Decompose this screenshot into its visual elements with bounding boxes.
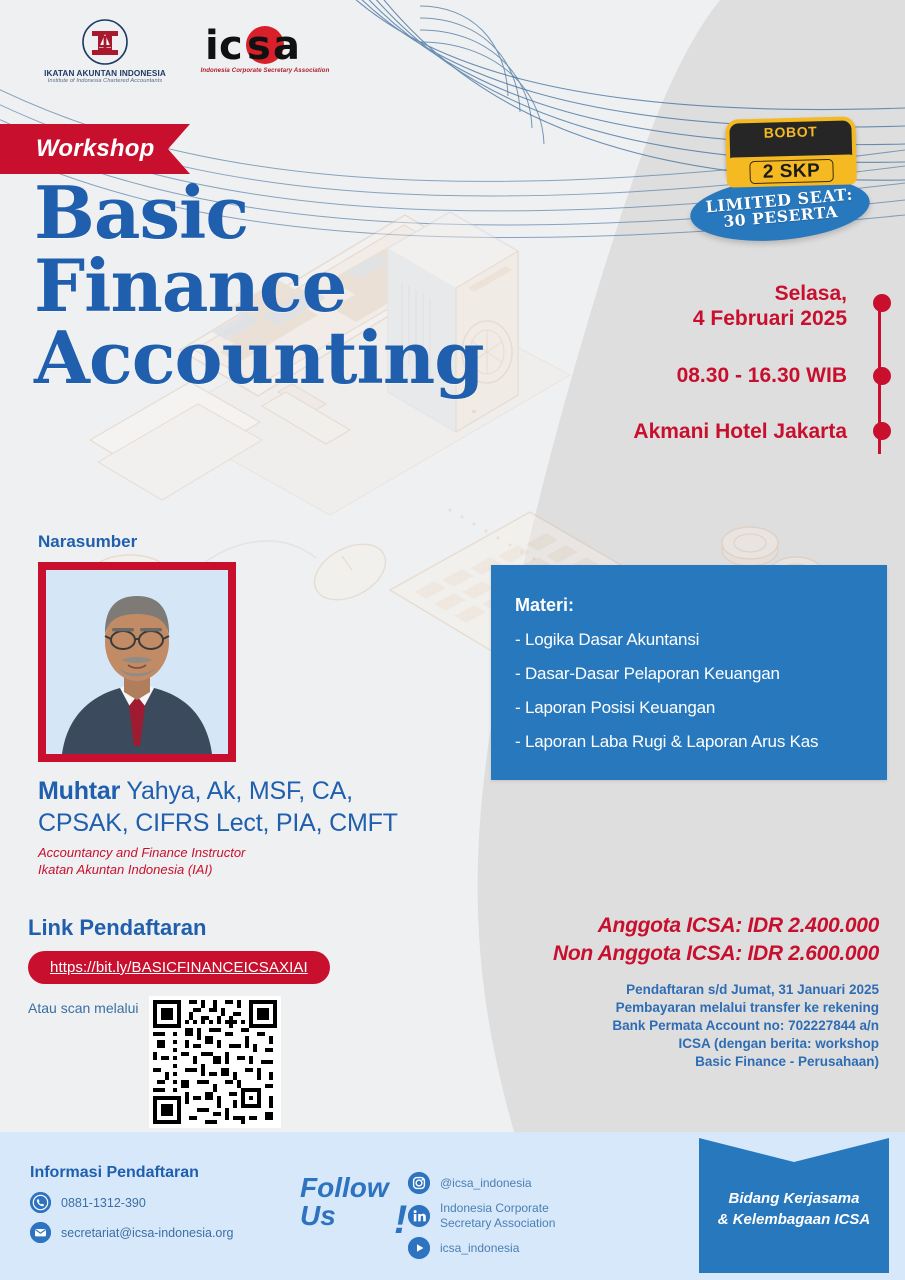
skp-value: 2 SKP [750,158,834,183]
bobot-label: BOBOT [729,122,851,141]
timeline-dot-date [873,294,891,312]
speaker-role-line-1: Accountancy and Finance Instructor [38,845,458,862]
materi-item: - Dasar-Dasar Pelaporan Keuangan [515,664,887,684]
payment-note: Pendaftaran s/d Jumat, 31 Januari 2025 P… [509,981,879,1071]
whatsapp-icon [30,1192,51,1213]
exclamation-icon: ! [394,1204,406,1236]
svg-text:a: a [273,23,300,66]
event-date-value: 4 Februari 2025 [607,307,847,332]
qr-code[interactable] [149,996,281,1128]
page-title: Basic Finance Accounting [34,178,454,394]
contact-email: secretariat@icsa-indonesia.org [61,1226,234,1240]
contact-phone: 0881-1312-390 [61,1196,146,1210]
social-youtube[interactable]: icsa_indonesia [408,1237,628,1259]
organizer-tag-line-2: & Kelembagaan ICSA [718,1211,871,1228]
materi-box: Materi: - Logika Dasar Akuntansi - Dasar… [491,565,887,780]
event-venue: Akmani Hotel Jakarta [607,420,887,445]
speaker-section: Narasumber [38,532,458,878]
social-instagram[interactable]: @icsa_indonesia [408,1172,628,1194]
social-youtube-handle: icsa_indonesia [440,1241,519,1256]
materi-item: - Logika Dasar Akuntansi [515,630,887,650]
event-venue-value: Akmani Hotel Jakarta [607,420,847,445]
iai-emblem-icon [81,18,129,66]
payment-note-line-3: Bank Permata Account no: 702227844 a/n [509,1017,879,1035]
registration-heading: Link Pendaftaran [28,915,448,941]
speaker-role: Accountancy and Finance Instructor Ikata… [38,845,458,878]
organizer-tag: Bidang Kerjasama & Kelembagaan ICSA [699,1138,889,1273]
follow-line-2: Us [300,1202,336,1230]
youtube-icon [408,1237,430,1259]
icsa-logo: i c s a Indonesia Corporate Secretary As… [200,20,330,74]
title-line-1: Basic [34,178,454,249]
payment-note-line-5: Basic Finance - Perusahaan) [509,1053,879,1071]
social-instagram-handle: @icsa_indonesia [440,1176,532,1191]
registration-section: Link Pendaftaran https://bit.ly/BASICFIN… [28,915,448,1128]
event-date: Selasa, 4 Februari 2025 [607,282,887,332]
event-details: Selasa, 4 Februari 2025 08.30 - 16.30 WI… [607,282,887,445]
price-member: Anggota ICSA: IDR 2.400.000 [509,912,879,940]
iai-subtitle: Institute of Indonesia Chartered Account… [40,78,170,84]
speaker-name: Muhtar Yahya, Ak, MSF, CA, CPSAK, CIFRS … [38,776,458,839]
event-day: Selasa, [607,282,847,307]
workshop-label: Workshop [36,135,155,163]
scan-label: Atau scan melalui [28,996,139,1016]
social-linkedin[interactable]: Indonesia CorporateSecretary Association [408,1201,628,1230]
speaker-first-name: Muhtar [38,777,120,805]
workshop-ribbon: Workshop [0,124,190,174]
payment-note-line-4: ICSA (dengan berita: workshop [509,1035,879,1053]
iai-logo: IKATAN AKUNTAN INDONESIA Institute of In… [40,18,170,84]
follow-us-label: Follow Us ! [300,1174,410,1230]
organizer-tag-text: Bidang Kerjasama & Kelembagaan ICSA [718,1189,871,1230]
skp-pill: 2 SKP [726,154,857,187]
instagram-icon [408,1172,430,1194]
organizer-tag-line-1: Bidang Kerjasama [729,1190,860,1207]
speaker-credentials-1: Yahya, Ak, MSF, CA, [120,777,353,805]
qr-row: Atau scan melalui [28,996,448,1128]
svg-text:s: s [247,23,271,66]
social-linkedin-name: Indonesia CorporateSecretary Association [440,1201,555,1230]
materi-heading: Materi: [515,595,887,616]
svg-text:c: c [219,23,243,66]
linkedin-icon [408,1205,430,1227]
speaker-photo [38,562,236,762]
timeline-dot-time [873,367,891,385]
speaker-credentials-2: CPSAK, CIFRS Lect, PIA, CMFT [38,809,398,837]
footer: Informasi Pendaftaran 0881-1312-390 [0,1132,905,1280]
social-links: @icsa_indonesia Indonesia CorporateSecre… [408,1172,628,1266]
payment-note-line-1: Pendaftaran s/d Jumat, 31 Januari 2025 [509,981,879,999]
poster-root: IKATAN AKUNTAN INDONESIA Institute of In… [0,0,905,1280]
registration-url-button[interactable]: https://bit.ly/BASICFINANCEICSAXIAI [28,951,330,984]
skp-badge-body: BOBOT 2 SKP [725,116,857,181]
price-section: Anggota ICSA: IDR 2.400.000 Non Anggota … [509,912,879,1071]
skp-badge: BOBOT 2 SKP [700,118,880,188]
icsa-wordmark-icon: i c s a [200,20,330,66]
payment-note-line-2: Pembayaran melalui transfer ke rekening [509,999,879,1017]
title-line-3: Accounting [34,323,454,394]
email-icon [30,1222,51,1243]
svg-text:i: i [205,23,219,66]
speaker-role-line-2: Ikatan Akuntan Indonesia (IAI) [38,862,458,879]
materi-list: - Logika Dasar Akuntansi - Dasar-Dasar P… [515,630,887,752]
materi-item: - Laporan Posisi Keuangan [515,698,887,718]
iai-name: IKATAN AKUNTAN INDONESIA [40,69,170,78]
logo-bar: IKATAN AKUNTAN INDONESIA Institute of In… [0,8,520,98]
price-non-member: Non Anggota ICSA: IDR 2.600.000 [509,940,879,968]
event-time-value: 08.30 - 16.30 WIB [607,364,847,389]
title-line-2: Finance [34,251,454,322]
materi-item: - Laporan Laba Rugi & Laporan Arus Kas [515,732,887,752]
event-time: 08.30 - 16.30 WIB [607,364,887,389]
icsa-subtitle: Indonesia Corporate Secretary Associatio… [200,67,330,74]
speaker-section-label: Narasumber [38,532,458,552]
